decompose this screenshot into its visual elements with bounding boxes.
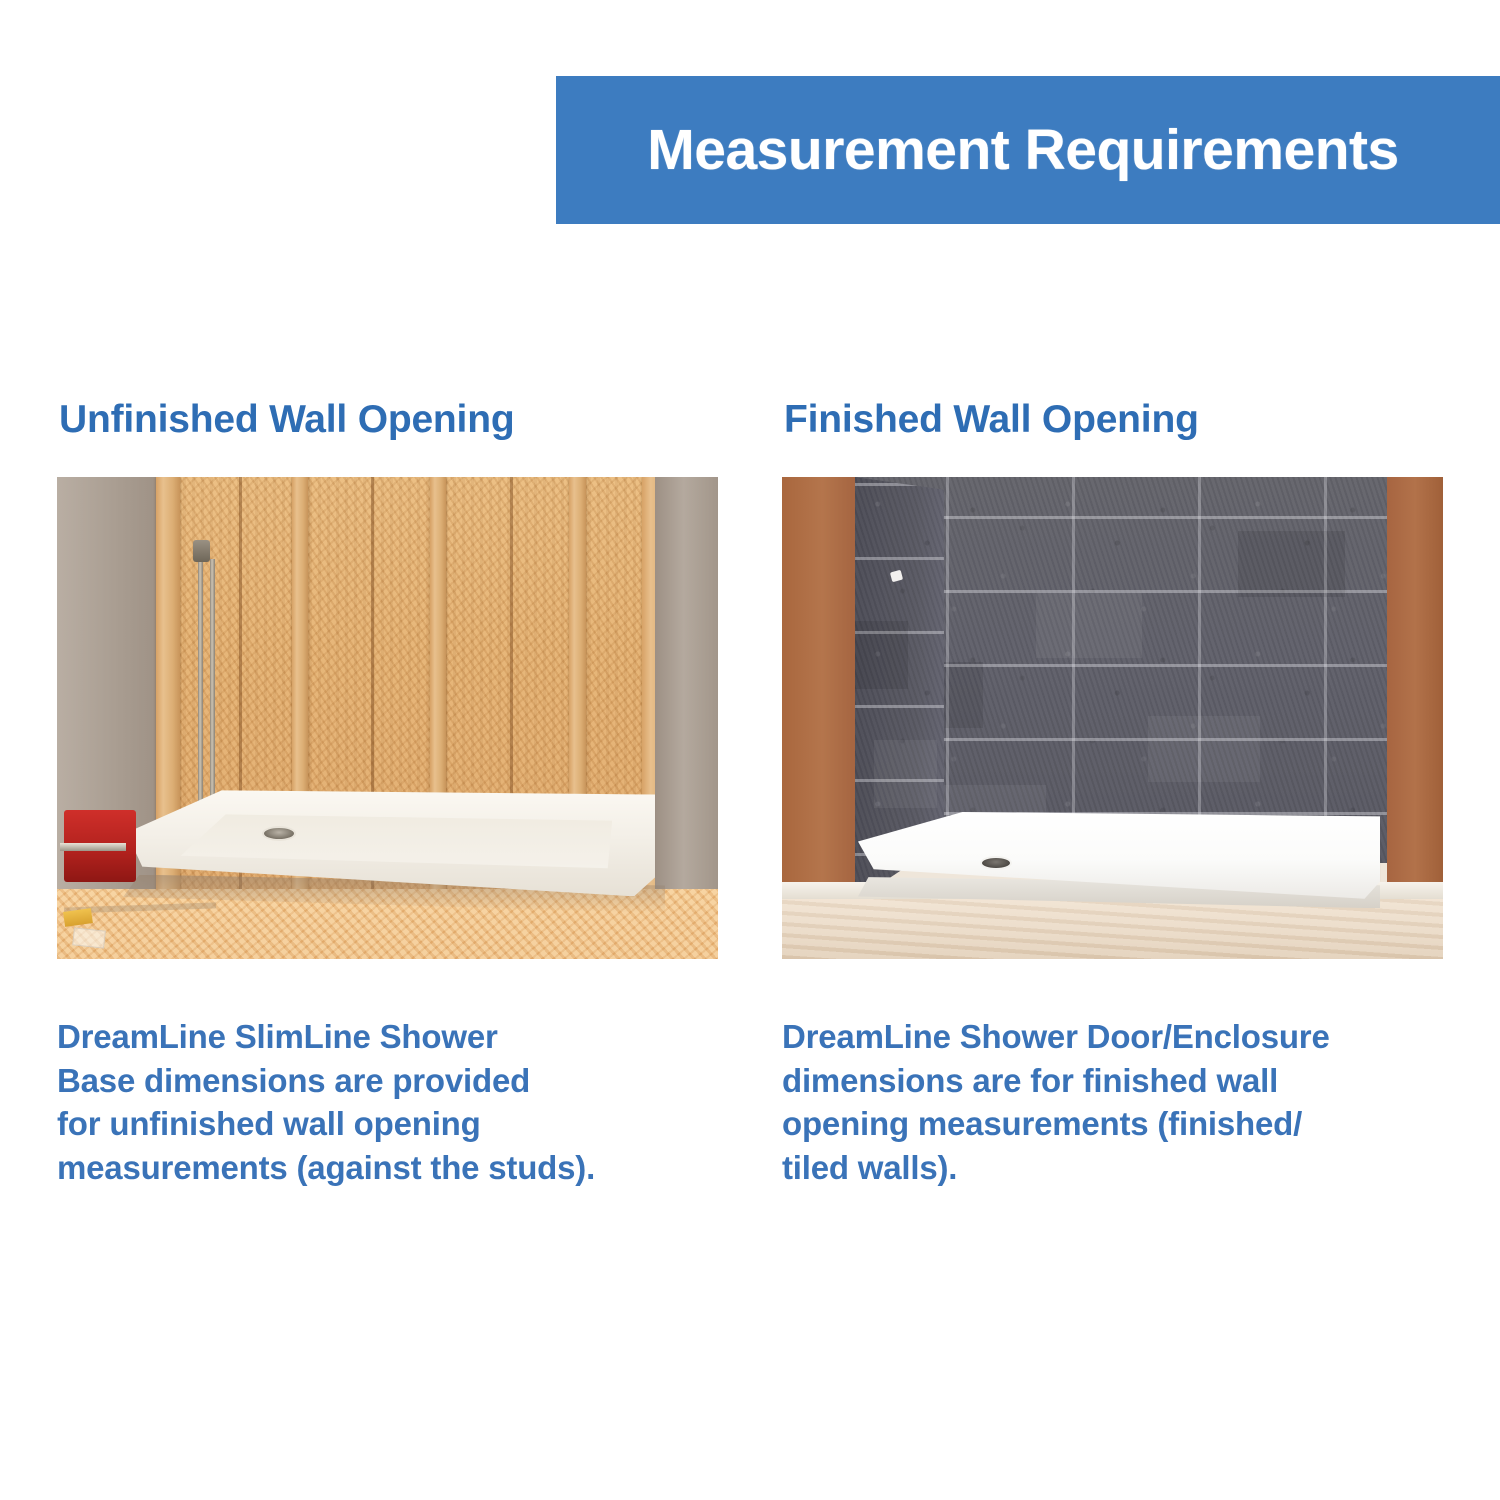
painted-wall-left xyxy=(782,477,855,896)
caption-unfinished-wall-opening: DreamLine SlimLine Shower Base dimension… xyxy=(57,1015,719,1189)
supply-pipe xyxy=(210,559,215,819)
tile-tone-variation xyxy=(1036,593,1143,659)
page-title: Measurement Requirements xyxy=(647,117,1398,183)
caption-finished-wall-opening: DreamLine Shower Door/Enclosure dimensio… xyxy=(782,1015,1444,1189)
header-banner: Measurement Requirements xyxy=(556,76,1500,224)
supply-pipe xyxy=(198,549,203,819)
floor-debris xyxy=(72,927,105,949)
toolbox-handle-slot xyxy=(60,843,126,851)
panel-unfinished-wall-opening: Unfinished Wall Opening DreamLine SlimLi… xyxy=(57,400,719,1189)
tile-tone-variation xyxy=(1238,531,1345,597)
photo-unfinished-wall-opening xyxy=(57,477,718,959)
painted-wall-right xyxy=(1387,477,1443,896)
panel-finished-wall-opening: Finished Wall Opening DreamLine Shower D… xyxy=(782,400,1444,1189)
tile-tone-variation xyxy=(1148,716,1260,782)
shower-drain xyxy=(980,856,1012,870)
tile-tone-variation xyxy=(874,740,936,808)
pipe-fitting xyxy=(193,540,210,562)
photo-finished-wall-opening xyxy=(782,477,1443,959)
tile-tone-variation xyxy=(855,621,909,689)
heading-unfinished-wall-opening: Unfinished Wall Opening xyxy=(59,400,719,439)
shower-drain xyxy=(262,826,296,841)
heading-finished-wall-opening: Finished Wall Opening xyxy=(784,400,1444,439)
